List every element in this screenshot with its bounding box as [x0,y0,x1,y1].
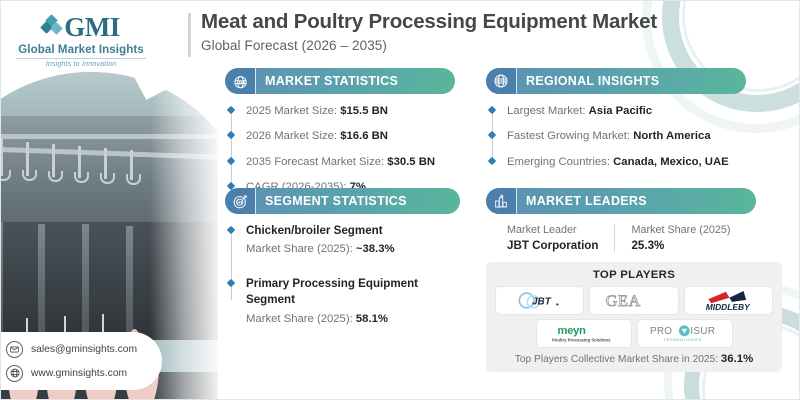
infographic-root: GMI Global Market Insights Insights to I… [0,0,800,400]
player-logo-provisur: PRO ISUR TECHNOLOGIES [638,320,732,347]
region-label: Emerging Countries: [507,156,610,168]
globe-icon [6,365,23,382]
market-leader-label: Market Leader [507,224,598,236]
region-value: North America [633,130,710,142]
svg-text:PRO: PRO [650,326,672,337]
stat-value: $15.5 BN [340,105,388,117]
svg-text:TECHNOLOGIES: TECHNOLOGIES [663,337,701,342]
list-item: 2035 Forecast Market Size: $30.5 BN [246,154,455,170]
region-value: Asia Pacific [589,105,652,117]
svg-text:GEA: GEA [606,293,641,310]
segment-statistics-list: Chicken/broiler Segment Market Share (20… [225,223,460,327]
market-leaders-label: MARKET LEADERS [516,188,661,214]
logo-company-name: Global Market Insights [6,44,156,56]
regional-insights-header: REGIONAL INSIGHTS [486,68,746,94]
market-share-label: Market Share (2025) [631,224,730,236]
stat-value: $16.6 BN [340,130,388,142]
svg-text:meyn: meyn [557,325,586,337]
section-market-leaders: MARKET LEADERS Market Leader JBT Corpora… [486,188,756,252]
section-segment-statistics: SEGMENT STATISTICS Chicken/broiler Segme… [225,188,460,336]
page-title: Meat and Poultry Processing Equipment Ma… [201,10,657,34]
logo-divider [16,58,146,59]
contact-email-row[interactable]: sales@gminsights.com [6,341,162,358]
envelope-icon [6,341,23,358]
market-statistics-list: 2025 Market Size: $15.5 BN 2026 Market S… [225,103,455,196]
section-regional-insights: REGIONAL INSIGHTS Largest Market: Asia P… [486,68,746,179]
svg-text:Poultry Processing Solutions: Poultry Processing Solutions [552,338,611,343]
top-players-share-value: 36.1% [721,353,753,365]
contact-website: www.gminsights.com [31,368,127,379]
region-value: Canada, Mexico, UAE [613,156,729,168]
market-leaders-header: MARKET LEADERS [486,188,756,214]
market-share-column: Market Share (2025) 25.3% [614,224,746,252]
list-item: Largest Market: Asia Pacific [507,103,746,119]
globe-icon [486,68,516,94]
segment-share-label: Market Share (2025): [246,313,353,325]
contact-email: sales@gminsights.com [31,344,137,355]
market-leader-column: Market Leader JBT Corporation [507,224,614,252]
player-logo-jbt: JBT [496,287,583,314]
segment-name: Primary Processing Equipment Segment [246,276,460,306]
regional-insights-label: REGIONAL INSIGHTS [516,68,673,94]
list-item: Primary Processing Equipment Segment Mar… [246,276,460,327]
top-players-panel: TOP PLAYERS JBT GEA MIDDLEBY [486,262,782,372]
top-players-share-label: Top Players Collective Market Share in 2… [515,354,718,365]
logo-acronym: GMI [64,12,120,43]
region-label: Fastest Growing Market: [507,130,630,142]
top-players-title: TOP PLAYERS [496,269,772,281]
segment-statistics-header: SEGMENT STATISTICS [225,188,460,214]
stat-value: $30.5 BN [387,156,435,168]
svg-text:MIDDLEBY: MIDDLEBY [706,302,751,312]
segment-share-value: 58.1% [356,313,388,325]
segment-share-label: Market Share (2025): [246,243,353,255]
svg-text:JBT: JBT [532,297,552,308]
segment-name: Chicken/broiler Segment [246,223,460,238]
globe-chart-icon [225,68,255,94]
stat-label: 2035 Forecast Market Size: [246,156,384,168]
region-label: Largest Market: [507,105,585,117]
player-logo-meyn: meyn Poultry Processing Solutions [537,320,631,347]
list-item: 2025 Market Size: $15.5 BN [246,103,455,119]
page-title-block: Meat and Poultry Processing Equipment Ma… [188,10,657,53]
contact-website-row[interactable]: www.gminsights.com [6,365,162,382]
podium-icon [486,188,516,214]
list-item: Fastest Growing Market: North America [507,128,746,144]
logo-tagline: Insights to Innovation [6,61,156,68]
contact-footer: sales@gminsights.com www.gminsights.com [0,332,162,390]
segment-share-value: ~38.3% [356,243,395,255]
gmi-logo: GMI Global Market Insights Insights to I… [6,12,156,68]
market-share-value: 25.3% [631,239,730,252]
player-logo-middleby: MIDDLEBY [685,287,772,314]
list-item: 2026 Market Size: $16.6 BN [246,128,455,144]
market-leader-value: JBT Corporation [507,239,598,252]
market-statistics-label: MARKET STATISTICS [255,68,412,94]
target-arrow-icon [225,188,255,214]
market-leaders-detail: Market Leader JBT Corporation Market Sha… [486,224,756,252]
stat-label: 2026 Market Size: [246,130,337,142]
regional-insights-list: Largest Market: Asia Pacific Fastest Gro… [486,103,746,170]
market-statistics-header: MARKET STATISTICS [225,68,455,94]
list-item: Emerging Countries: Canada, Mexico, UAE [507,154,746,170]
stat-label: 2025 Market Size: [246,105,337,117]
title-accent-bar [188,13,191,57]
player-logo-gea: GEA [590,287,677,314]
page-subtitle: Global Forecast (2026 – 2035) [201,38,657,53]
section-market-statistics: MARKET STATISTICS 2025 Market Size: $15.… [225,68,455,205]
svg-text:ISUR: ISUR [690,326,715,337]
list-item: Chicken/broiler Segment Market Share (20… [246,223,460,257]
diamond-logo-icon [42,15,62,41]
segment-statistics-label: SEGMENT STATISTICS [255,188,421,214]
